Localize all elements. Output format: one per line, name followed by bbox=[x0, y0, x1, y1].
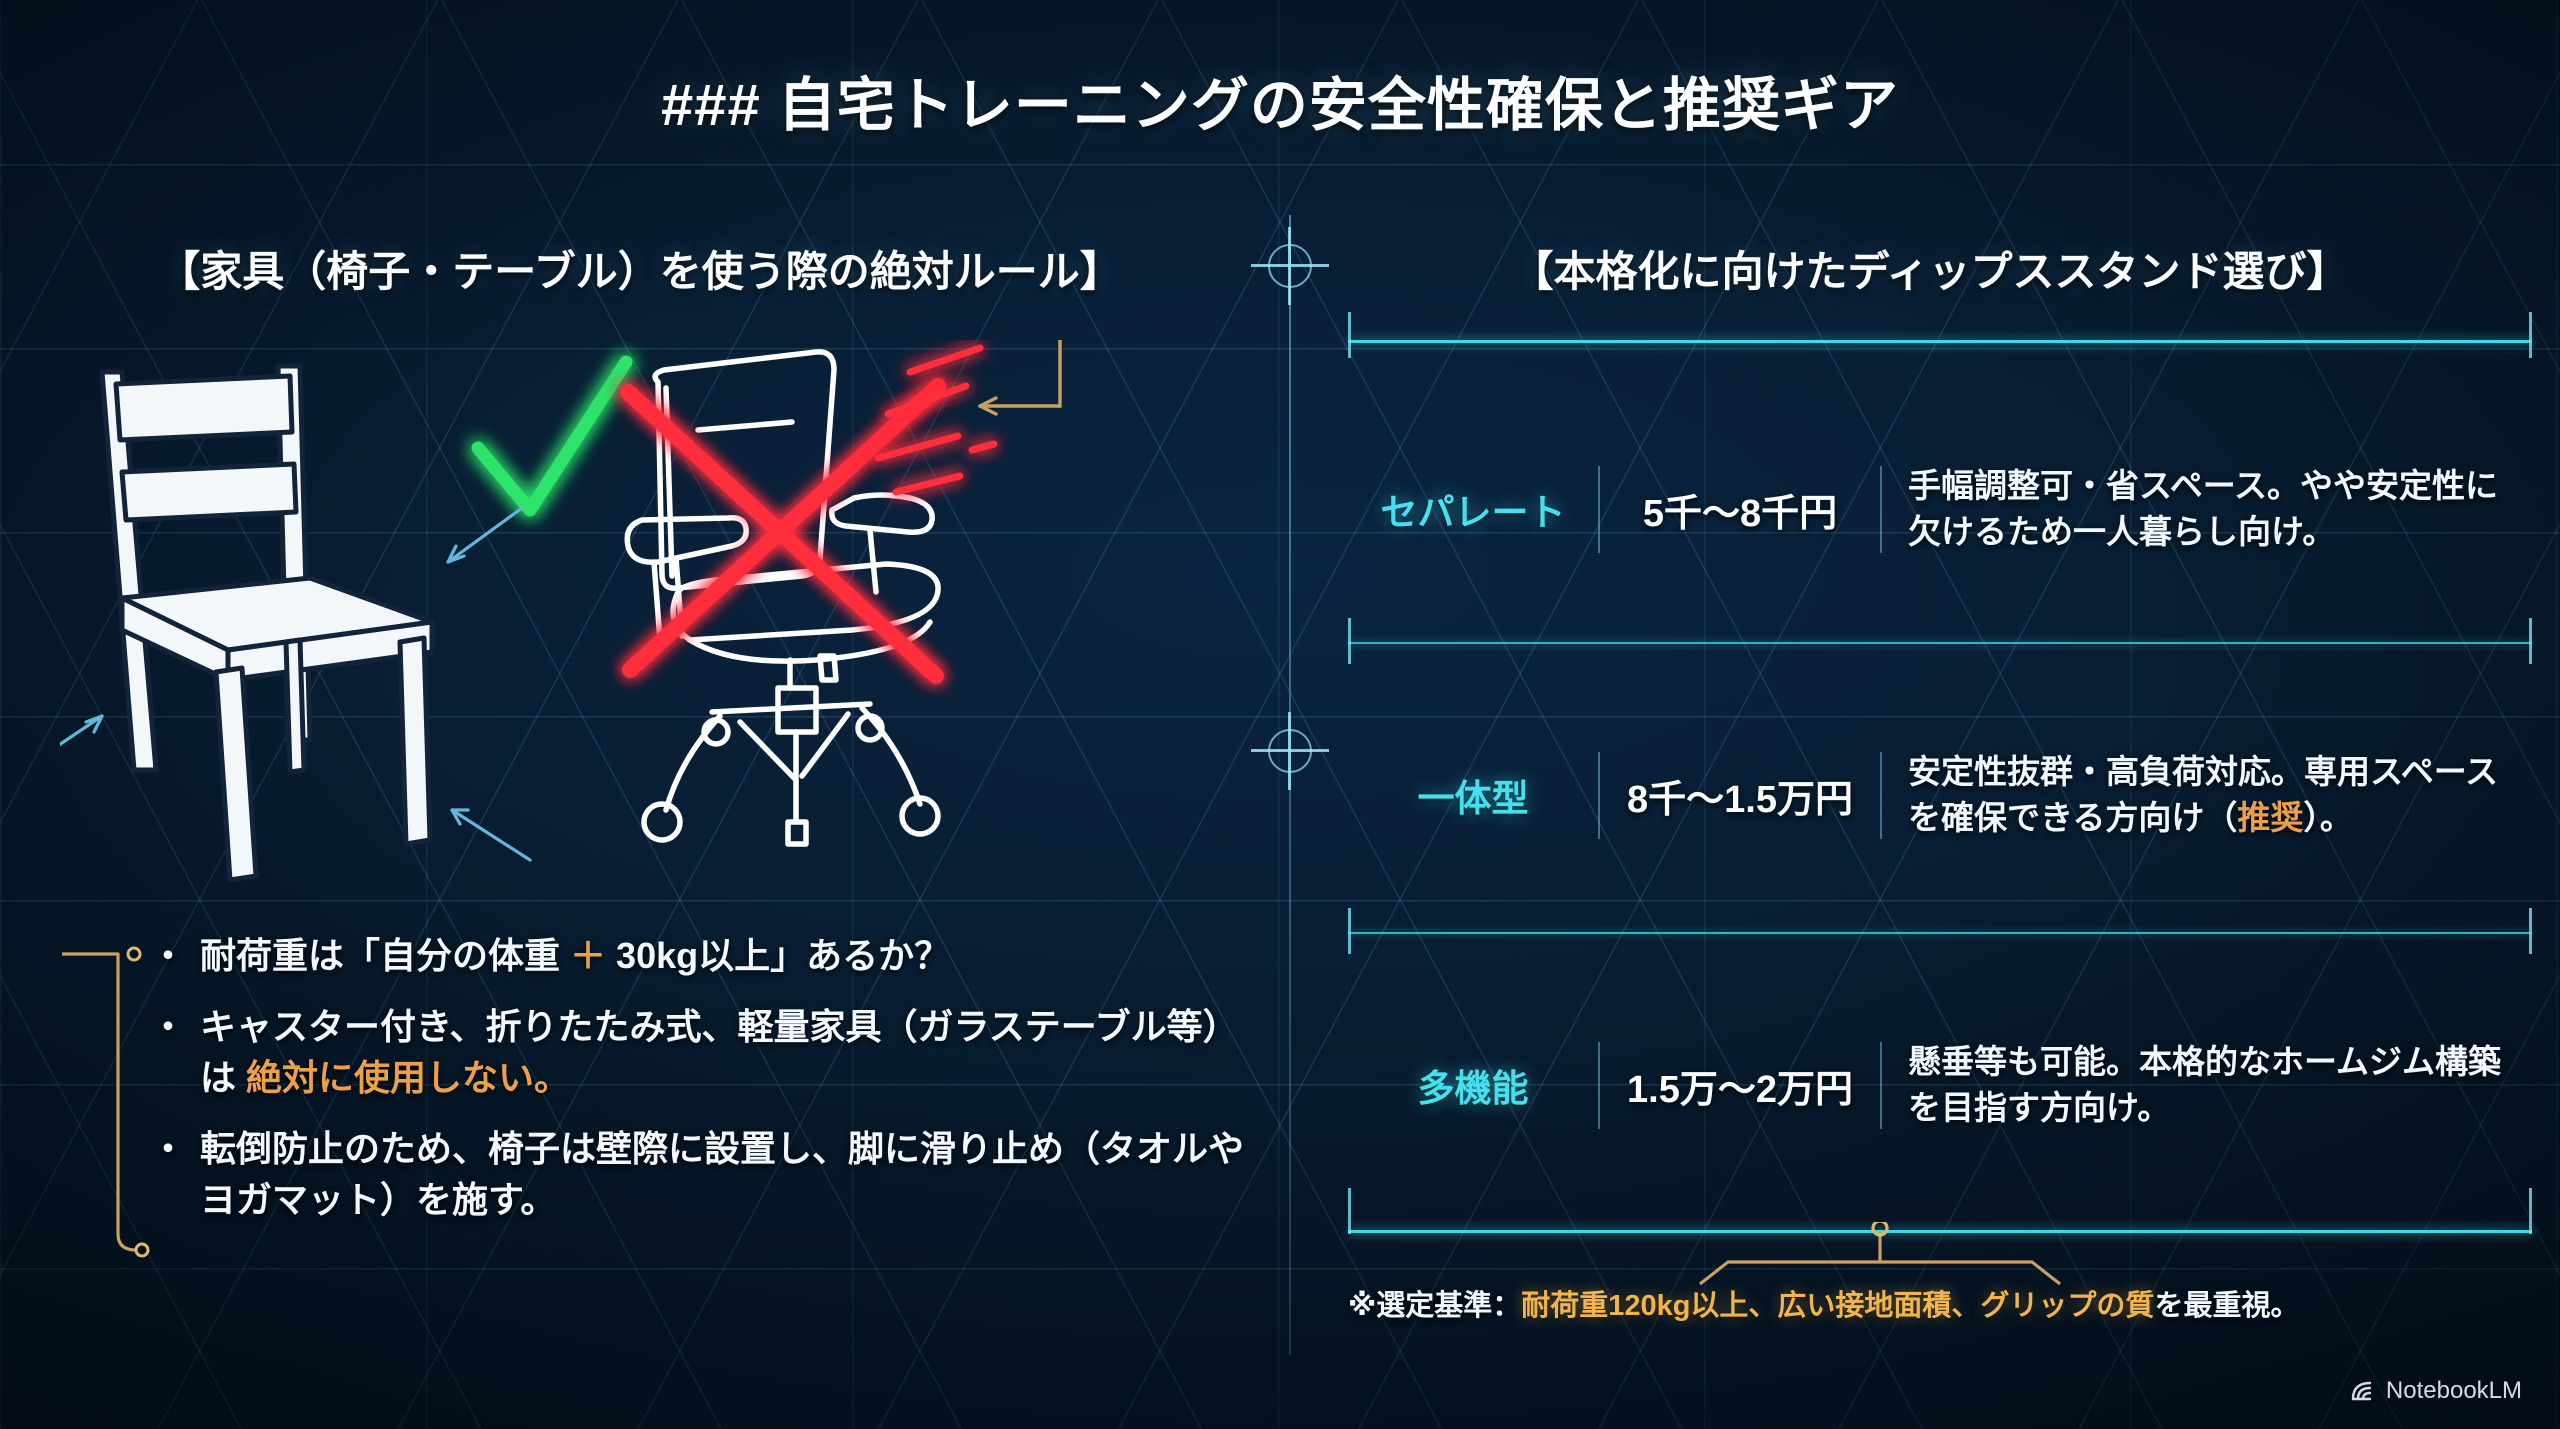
table-row: セパレート 5千〜8千円 手幅調整可・省スペース。やや安定性に欠けるため一人暮ら… bbox=[1348, 384, 2532, 634]
table-corner-accent-r2 bbox=[2529, 908, 2532, 954]
row-type: 一体型 bbox=[1348, 768, 1598, 822]
left-panel-heading: 【家具（椅子・テーブル）を使う際の絶対ルール】 bbox=[40, 238, 1240, 299]
notebooklm-watermark: NotebookLM bbox=[2350, 1377, 2522, 1405]
crosshair-marker-middle bbox=[1251, 712, 1329, 790]
rules-list: ・ 耐荷重は「自分の体重 ＋ 30kg以上」あるか？ ・ キャスター付き、折りた… bbox=[150, 930, 1270, 1246]
watermark-label: NotebookLM bbox=[2386, 1377, 2522, 1405]
bullet-marker: ・ bbox=[150, 1001, 186, 1103]
bullet-marker: ・ bbox=[150, 1123, 186, 1225]
table-corner-accent-l1 bbox=[1348, 618, 1351, 664]
row-type: セパレート bbox=[1348, 482, 1598, 536]
illustration-svg bbox=[60, 340, 1240, 900]
table-corner-accent-r1 bbox=[2529, 618, 2532, 664]
table-row: 一体型 8千〜1.5万円 安定性抜群・高負荷対応。専用スペースを確保できる方向け… bbox=[1348, 670, 2532, 920]
crosshair-vertical-bar bbox=[1288, 227, 1291, 305]
notebooklm-spark-icon bbox=[2350, 1378, 2376, 1404]
table-corner-accent-l2 bbox=[1348, 908, 1351, 954]
table-row-separator bbox=[1348, 642, 2532, 644]
crosshair-marker-top bbox=[1251, 227, 1329, 305]
row-type: 多機能 bbox=[1348, 1058, 1598, 1112]
gold-pointer-bracket bbox=[980, 340, 1060, 414]
table-row: 多機能 1.5万〜2万円 懸垂等も可能。本格的なホームジム構築を目指す方向け。 bbox=[1348, 960, 2532, 1210]
row-description: 懸垂等も可能。本格的なホームジム構築を目指す方向け。 bbox=[1882, 1039, 2532, 1131]
right-panel-heading: 【本格化に向けたディップススタンド選び】 bbox=[1340, 238, 2520, 299]
bullet-marker: ・ bbox=[150, 930, 186, 981]
infographic-canvas: ### 自宅トレーニングの安全性確保と推奨ギア 【家具（椅子・テーブル）を使う際… bbox=[0, 0, 2560, 1429]
dip-stand-comparison-table: セパレート 5千〜8千円 手幅調整可・省スペース。やや安定性に欠けるため一人暮ら… bbox=[1348, 340, 2532, 1240]
row-description: 手幅調整可・省スペース。やや安定性に欠けるため一人暮らし向け。 bbox=[1882, 463, 2532, 555]
table-corner-accent-tr bbox=[2529, 312, 2532, 358]
list-item: ・ 転倒防止のため、椅子は壁際に設置し、脚に滑り止め（タオルやヨガマット）を施す… bbox=[150, 1123, 1270, 1225]
bullet-text: キャスター付き、折りたたみ式、軽量家具（ガラステーブル等）は 絶対に使用しない。 bbox=[200, 1001, 1270, 1103]
bullet-text: 転倒防止のため、椅子は壁際に設置し、脚に滑り止め（タオルやヨガマット）を施す。 bbox=[200, 1123, 1270, 1225]
furniture-illustration bbox=[60, 340, 1240, 900]
row-description: 安定性抜群・高負荷対応。専用スペースを確保できる方向け（推奨）。 bbox=[1882, 749, 2532, 841]
bullet-text: 耐荷重は「自分の体重 ＋ 30kg以上」あるか？ bbox=[200, 930, 950, 981]
green-check-icon bbox=[478, 362, 626, 510]
table-top-border bbox=[1348, 340, 2532, 343]
table-corner-accent-bl bbox=[1348, 1188, 1351, 1234]
table-corner-accent-br bbox=[2529, 1188, 2532, 1234]
selection-criteria-note: ※選定基準：耐荷重120kg以上、広い接地面積、グリップの質を最重視。 bbox=[1348, 1282, 2548, 1324]
list-item: ・ キャスター付き、折りたたみ式、軽量家具（ガラステーブル等）は 絶対に使用しな… bbox=[150, 1001, 1270, 1103]
table-corner-accent-tl bbox=[1348, 312, 1351, 358]
wooden-chair-icon bbox=[102, 366, 432, 880]
table-row-separator bbox=[1348, 932, 2532, 934]
list-item: ・ 耐荷重は「自分の体重 ＋ 30kg以上」あるか？ bbox=[150, 930, 1270, 981]
row-emphasis: 推奨 bbox=[2237, 799, 2303, 836]
row-price: 1.5万〜2万円 bbox=[1598, 1042, 1882, 1129]
crosshair-vertical-bar bbox=[1288, 712, 1291, 790]
note-emphasis: 耐荷重120kg以上、広い接地面積、グリップの質 bbox=[1521, 1290, 2154, 1322]
row-price: 5千〜8千円 bbox=[1598, 466, 1882, 553]
row-price: 8千〜1.5万円 bbox=[1598, 752, 1882, 839]
bullet-emphasis: 絶対に使用しない。 bbox=[246, 1057, 570, 1098]
page-title: ### 自宅トレーニングの安全性確保と推奨ギア bbox=[0, 58, 2560, 142]
bullets-gold-brace bbox=[62, 938, 152, 1273]
bullet-emphasis: ＋ bbox=[570, 935, 606, 976]
